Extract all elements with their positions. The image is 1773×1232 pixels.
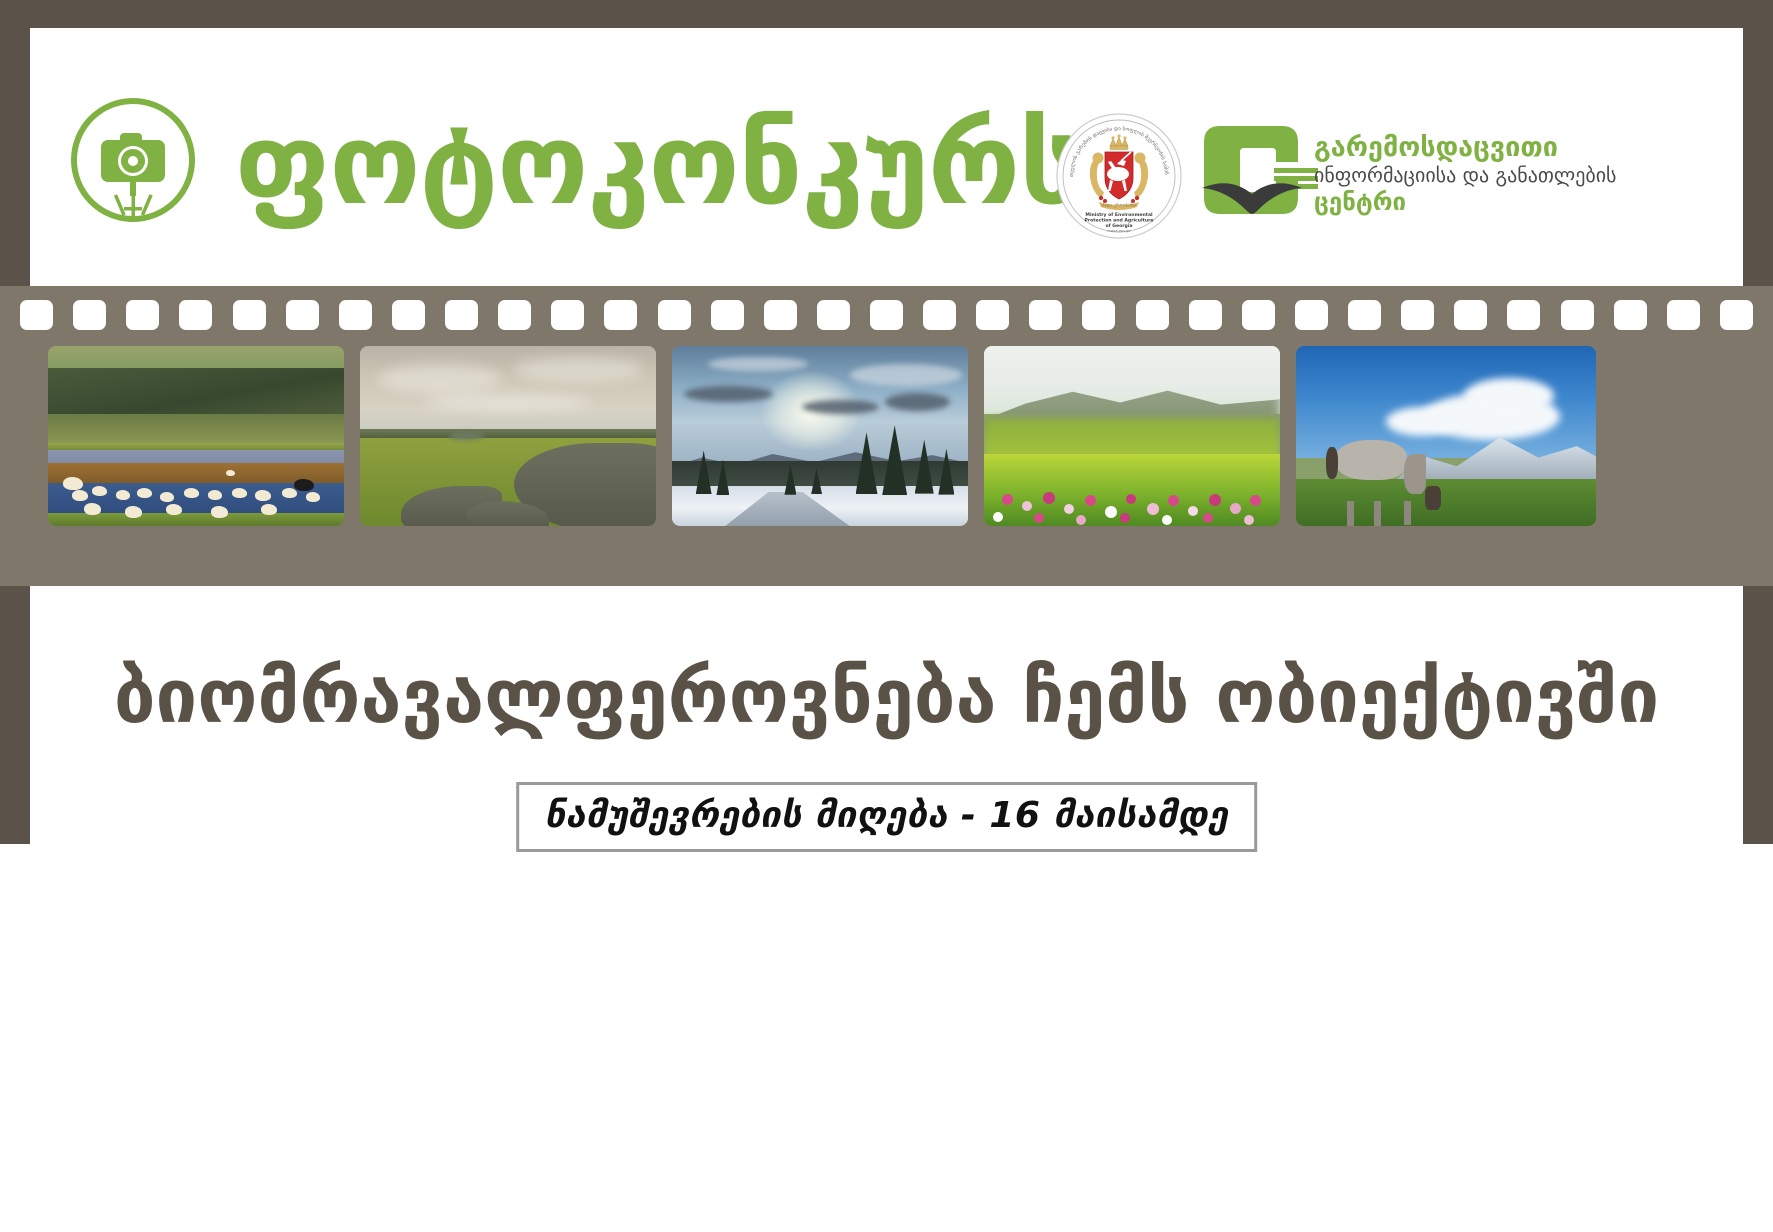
eiec-line-3: ცენტრი <box>1314 188 1734 216</box>
film-perforation <box>1348 300 1381 330</box>
film-perforation <box>498 300 531 330</box>
film-perforation <box>551 300 584 330</box>
film-perforation <box>764 300 797 330</box>
film-perforation <box>1667 300 1700 330</box>
horse <box>1335 440 1407 480</box>
film-perforation <box>445 300 478 330</box>
page-title: ფოტოკონკურსი <box>235 100 1144 230</box>
film-perforation <box>179 300 212 330</box>
perforation-row-top <box>0 300 1773 330</box>
film-frame-1 <box>48 346 344 526</box>
photo-horse-grazing-snowy-mountains <box>1296 346 1596 526</box>
poster-inner: ფოტოკონკურსი საქართველოს გარემოს დაცვისა… <box>30 28 1743 974</box>
eiec-logo-text: გარემოსდაცვითი ინფორმაციისა და განათლები… <box>1314 132 1734 216</box>
photo-alpine-meadow-flowers <box>984 346 1280 526</box>
photo-pelicans-on-lake <box>48 346 344 526</box>
film-frame-4 <box>984 346 1280 526</box>
poster-root: ფოტოკონკურსი საქართველოს გარემოს დაცვისა… <box>0 0 1773 1002</box>
film-perforation <box>20 300 53 330</box>
film-perforation <box>1242 300 1275 330</box>
eiec-line-1: გარემოსდაცვითი <box>1314 132 1734 163</box>
film-perforation <box>73 300 106 330</box>
seal-en-line4: mepa.gov.ge <box>1107 229 1131 233</box>
photo-wetland-river-meadow <box>360 346 656 526</box>
film-perforation <box>1454 300 1487 330</box>
seal-en-line1: Ministry of Environmental <box>1085 212 1153 218</box>
photo-winter-mountain-road <box>672 346 968 526</box>
film-perforation <box>1614 300 1647 330</box>
poster-header: ფოტოკონკურსი საქართველოს გარემოს დაცვისა… <box>30 28 1743 286</box>
ministry-seal-icon: საქართველოს გარემოს დაცვისა და სოფლის მე… <box>1055 112 1183 240</box>
film-perforation <box>126 300 159 330</box>
film-perforation <box>976 300 1009 330</box>
deadline-box: ნამუშევრების მიღება - 16 მაისამდე <box>516 782 1258 852</box>
film-frame-2 <box>360 346 656 526</box>
film-perforation <box>711 300 744 330</box>
eiec-line-2: ინფორმაციისა და განათლების <box>1314 163 1734 188</box>
film-perforation <box>1136 300 1169 330</box>
film-perforation <box>1561 300 1594 330</box>
film-perforation <box>870 300 903 330</box>
film-frame-3 <box>672 346 968 526</box>
film-strip <box>0 286 1773 586</box>
film-perforation <box>392 300 425 330</box>
film-frame-5 <box>1296 346 1596 526</box>
film-perforation <box>817 300 850 330</box>
film-frames <box>0 346 1773 526</box>
eiec-mark-icon <box>1200 116 1320 234</box>
film-perforation <box>923 300 956 330</box>
deadline-text: ნამუშევრების მიღება - 16 მაისამდე <box>545 795 1229 836</box>
seal-en-line2: Protection and Agriculture <box>1085 218 1154 224</box>
poster-headline: ბიომრავალფეროვნება ჩემს ობიექტივში <box>30 654 1743 740</box>
film-perforation <box>1295 300 1328 330</box>
film-perforation <box>1189 300 1222 330</box>
film-perforation <box>1082 300 1115 330</box>
film-perforation <box>339 300 372 330</box>
film-perforation <box>604 300 637 330</box>
film-perforation <box>233 300 266 330</box>
film-perforation <box>286 300 319 330</box>
film-perforation <box>1507 300 1540 330</box>
film-perforation <box>1029 300 1062 330</box>
poster-bottom: ბიომრავალფეროვნება ჩემს ობიექტივში ნამუშ… <box>30 586 1743 974</box>
svg-text:ძალა ერთობაშია: ძალა ერთობაშია <box>1102 203 1136 208</box>
camera-tripod-icon <box>68 95 198 225</box>
film-perforation <box>658 300 691 330</box>
film-perforation <box>1720 300 1753 330</box>
film-perforation <box>1401 300 1434 330</box>
